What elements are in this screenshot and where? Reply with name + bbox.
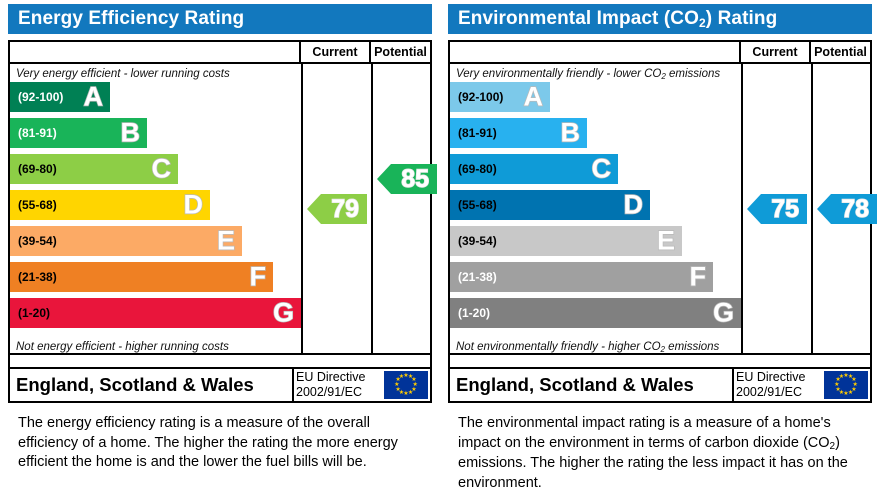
band-letter: F: [690, 264, 707, 291]
energy-description: The energy efficiency rating is a measur…: [18, 414, 418, 473]
environmental-description: The environmental impact rating is a mea…: [458, 414, 858, 493]
energy-footer: England, Scotland & Wales EU Directive 2…: [8, 367, 432, 403]
band-letter: E: [217, 228, 235, 255]
table-header-row: Current Potential: [450, 42, 870, 64]
footer-directive-environment: EU Directive 2002/91/EC: [736, 370, 830, 400]
column-divider-current: [741, 64, 743, 353]
panel-title-text-pre: Environmental Impact (CO: [458, 8, 699, 29]
band-letter: B: [561, 120, 581, 147]
header-potential: Potential: [811, 42, 870, 62]
eu-star-icon: ★: [399, 374, 404, 380]
current-rating-value: 75: [771, 195, 799, 223]
epc-chart-page: Energy Efficiency Rating Current Potenti…: [0, 0, 880, 493]
energy-bands-list: (92-100)A(81-91)B(69-80)C(55-68)D(39-54)…: [10, 82, 301, 338]
band-letter: C: [152, 156, 172, 183]
band-range-label: (81-91): [458, 118, 497, 148]
potential-rating-value: 78: [841, 195, 869, 223]
footer-directive-energy: EU Directive 2002/91/EC: [296, 370, 390, 400]
eu-flag-icon: ★★★★★★★★★★★★: [824, 371, 868, 399]
rating-band-c: (69-80)C: [10, 154, 178, 184]
band-letter: G: [273, 300, 294, 327]
rating-band-a: (92-100)A: [450, 82, 550, 112]
potential-rating-arrow-energy: 85: [377, 164, 437, 194]
environmental-rating-table: Current Potential Very environmentally f…: [448, 40, 872, 395]
band-range-label: (92-100): [18, 82, 63, 112]
description-pre: The environmental impact rating is a mea…: [458, 415, 831, 451]
band-range-label: (55-68): [18, 190, 57, 220]
band-letter: C: [592, 156, 612, 183]
panel-title-environment: Environmental Impact (CO2) Rating: [448, 4, 872, 34]
header-blank: [10, 42, 301, 62]
current-rating-arrow-energy: 79: [307, 194, 367, 224]
rating-band-c: (69-80)C: [450, 154, 618, 184]
band-letter: G: [713, 300, 734, 327]
eu-star-icon: ★: [839, 374, 844, 380]
caption-top-pre: Very environmentally friendly - lower CO: [456, 68, 661, 80]
band-range-label: (69-80): [458, 154, 497, 184]
band-range-label: (21-38): [18, 262, 57, 292]
band-range-label: (1-20): [458, 298, 490, 328]
rating-band-a: (92-100)A: [10, 82, 110, 112]
potential-rating-arrow-environment: 78: [817, 194, 877, 224]
caption-bottom-divider: [450, 353, 870, 355]
caption-bottom-post: emissions: [665, 341, 719, 353]
caption-bottom-divider: [10, 353, 430, 355]
band-letter: B: [121, 120, 141, 147]
band-letter: E: [657, 228, 675, 255]
rating-band-b: (81-91)B: [10, 118, 147, 148]
table-header-row: Current Potential: [10, 42, 430, 64]
caption-very-friendly: Very environmentally friendly - lower CO…: [456, 66, 738, 82]
eu-flag-icon: ★★★★★★★★★★★★: [384, 371, 428, 399]
rating-band-d: (55-68)D: [10, 190, 210, 220]
footer-divider-environment: [732, 369, 734, 401]
potential-rating-value: 85: [401, 165, 429, 193]
rating-band-f: (21-38)F: [10, 262, 273, 292]
header-current: Current: [741, 42, 811, 62]
panel-title-co2-subscript: 2: [699, 16, 706, 30]
directive-line-1: EU Directive: [296, 370, 390, 385]
band-letter: D: [624, 192, 644, 219]
current-rating-value: 79: [331, 195, 359, 223]
panel-title-text: Energy Efficiency Rating: [18, 8, 244, 29]
header-potential: Potential: [371, 42, 430, 62]
column-divider-potential: [811, 64, 813, 353]
footer-divider-energy: [292, 369, 294, 401]
rating-band-g: (1-20)G: [10, 298, 301, 328]
energy-efficiency-panel: Energy Efficiency Rating Current Potenti…: [0, 0, 440, 493]
panel-title-text-post: ) Rating: [706, 8, 778, 29]
caption-top-post: emissions: [666, 68, 720, 80]
band-range-label: (1-20): [18, 298, 50, 328]
environmental-impact-panel: Environmental Impact (CO2) Rating Curren…: [440, 0, 880, 493]
band-range-label: (92-100): [458, 82, 503, 112]
eu-star-icon: ★: [408, 390, 413, 396]
band-range-label: (21-38): [458, 262, 497, 292]
description-co2-subscript: 2: [830, 441, 836, 452]
rating-band-f: (21-38)F: [450, 262, 713, 292]
eu-star-icon: ★: [848, 390, 853, 396]
band-range-label: (39-54): [458, 226, 497, 256]
band-letter: A: [524, 84, 544, 111]
caption-bottom-pre: Not environmentally friendly - higher CO: [456, 341, 661, 353]
band-letter: D: [184, 192, 204, 219]
rating-band-e: (39-54)E: [10, 226, 242, 256]
directive-line-2: 2002/91/EC: [296, 385, 390, 400]
band-letter: F: [250, 264, 267, 291]
directive-line-1: EU Directive: [736, 370, 830, 385]
footer-countries-energy: England, Scotland & Wales: [16, 369, 254, 401]
footer-countries-environment: England, Scotland & Wales: [456, 369, 694, 401]
band-range-label: (39-54): [18, 226, 57, 256]
rating-band-g: (1-20)G: [450, 298, 741, 328]
header-current: Current: [301, 42, 371, 62]
header-blank: [450, 42, 741, 62]
caption-very-efficient: Very energy efficient - lower running co…: [16, 66, 298, 82]
environmental-bands-list: (92-100)A(81-91)B(69-80)C(55-68)D(39-54)…: [450, 82, 741, 338]
band-range-label: (69-80): [18, 154, 57, 184]
rating-band-d: (55-68)D: [450, 190, 650, 220]
band-range-label: (81-91): [18, 118, 57, 148]
caption-top-co2-subscript: 2: [661, 72, 665, 81]
column-divider-current: [301, 64, 303, 353]
environmental-footer: England, Scotland & Wales EU Directive 2…: [448, 367, 872, 403]
rating-band-e: (39-54)E: [450, 226, 682, 256]
eu-star-icon: ★: [843, 391, 848, 397]
current-rating-arrow-environment: 75: [747, 194, 807, 224]
energy-rating-table: Current Potential Very energy efficient …: [8, 40, 432, 395]
band-range-label: (55-68): [458, 190, 497, 220]
column-divider-potential: [371, 64, 373, 353]
panel-title-energy: Energy Efficiency Rating: [8, 4, 432, 34]
rating-band-b: (81-91)B: [450, 118, 587, 148]
eu-star-icon: ★: [403, 391, 408, 397]
band-letter: A: [84, 84, 104, 111]
directive-line-2: 2002/91/EC: [736, 385, 830, 400]
